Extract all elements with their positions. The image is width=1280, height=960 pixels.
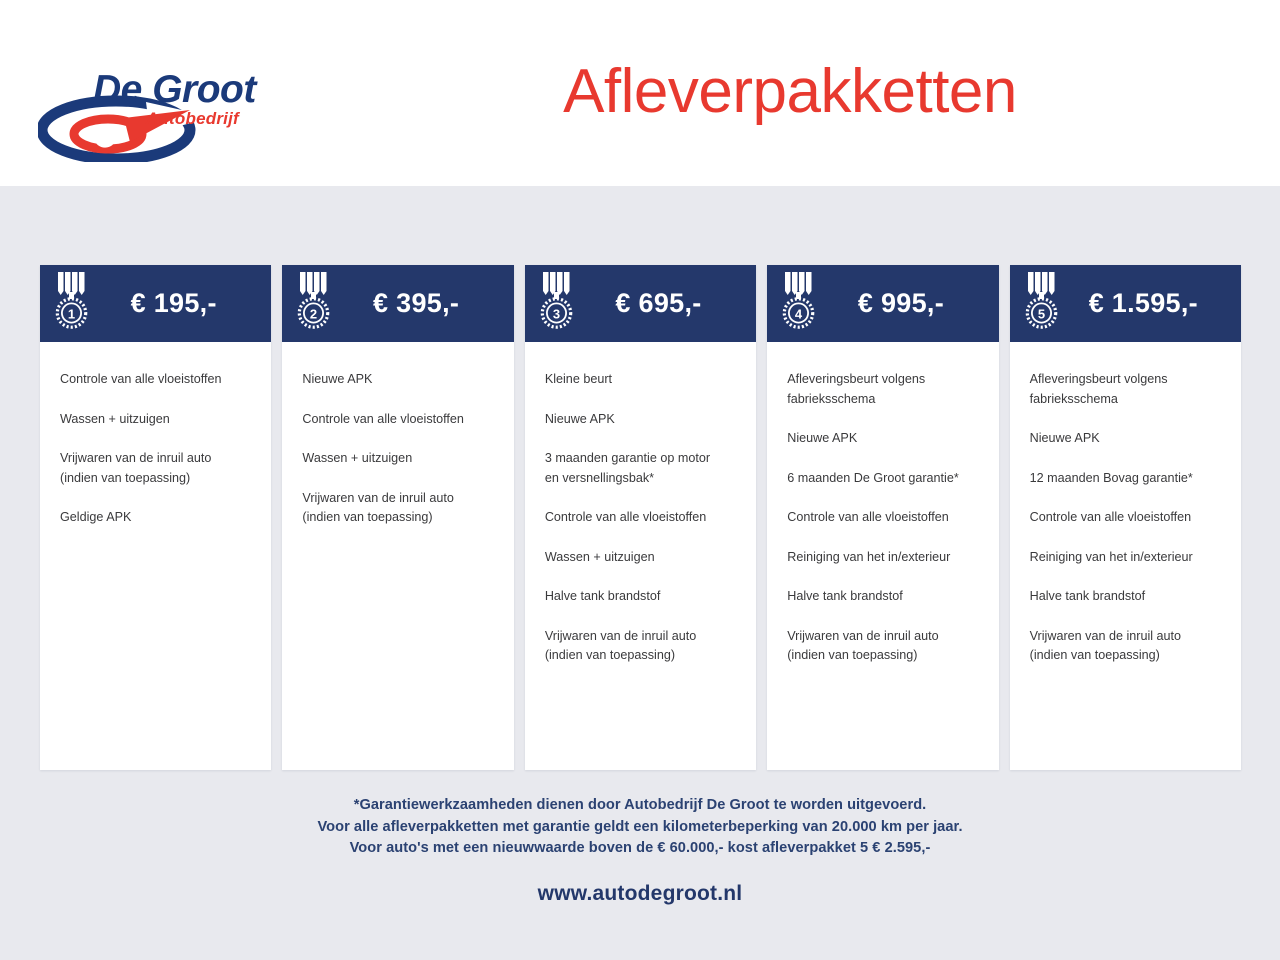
package-feature-list: Afleveringsbeurt volgens fabrieksschemaN… <box>1010 342 1241 770</box>
package-feature: Reiniging van het in/exterieur <box>1030 548 1221 568</box>
package-feature: Afleveringsbeurt volgens fabrieksschema <box>1030 370 1221 409</box>
package-card[interactable]: 2 € 395,- Nieuwe APKControle van alle vl… <box>282 265 513 770</box>
package-card-header: 4 € 995,- <box>767 265 998 342</box>
package-feature: Halve tank brandstof <box>1030 587 1221 607</box>
medal-badge: 2 <box>294 270 336 334</box>
package-feature-list: Kleine beurtNieuwe APK3 maanden garantie… <box>525 342 756 770</box>
svg-text:2: 2 <box>310 306 317 321</box>
medal-icon: 3 <box>537 270 579 334</box>
package-feature: Nieuwe APK <box>1030 429 1221 449</box>
medal-badge: 4 <box>779 270 821 334</box>
footer-disclaimer: *Garantiewerkzaamheden dienen door Autob… <box>0 795 1280 860</box>
svg-text:De Groot: De Groot <box>93 68 258 111</box>
afleverpakketten-page: De Groot Autobedrijf Afleverpakketten <box>0 0 1280 960</box>
package-card[interactable]: 1 € 195,- Controle van alle vloeistoffen… <box>40 265 271 770</box>
package-price: € 395,- <box>336 288 499 319</box>
package-feature: Nieuwe APK <box>545 410 736 430</box>
medal-icon: 4 <box>779 270 821 334</box>
package-feature: Kleine beurt <box>545 370 736 390</box>
package-card-list: 1 € 195,- Controle van alle vloeistoffen… <box>40 265 1241 770</box>
package-card-header: 1 € 195,- <box>40 265 271 342</box>
package-card[interactable]: 5 € 1.595,- Afleveringsbeurt volgens fab… <box>1010 265 1241 770</box>
page-footer: *Garantiewerkzaamheden dienen door Autob… <box>0 795 1280 906</box>
svg-text:5: 5 <box>1038 306 1045 321</box>
package-card[interactable]: 4 € 995,- Afleveringsbeurt volgens fabri… <box>767 265 998 770</box>
package-price: € 995,- <box>821 288 984 319</box>
package-feature: Controle van alle vloeistoffen <box>787 508 978 528</box>
page-header: De Groot Autobedrijf Afleverpakketten <box>0 0 1280 186</box>
package-feature: Controle van alle vloeistoffen <box>302 410 493 430</box>
svg-text:4: 4 <box>795 306 803 321</box>
package-feature: 6 maanden De Groot garantie* <box>787 469 978 489</box>
medal-badge: 1 <box>52 270 94 334</box>
package-feature: Wassen + uitzuigen <box>302 449 493 469</box>
package-feature: Nieuwe APK <box>302 370 493 390</box>
package-card-header: 3 € 695,- <box>525 265 756 342</box>
package-feature: Controle van alle vloeistoffen <box>545 508 736 528</box>
page-title: Afleverpakketten <box>430 58 1150 126</box>
package-feature: Vrijwaren van de inruil auto (indien van… <box>545 627 736 666</box>
package-feature: Vrijwaren van de inruil auto (indien van… <box>302 489 493 528</box>
package-feature: Reiniging van het in/exterieur <box>787 548 978 568</box>
footer-line: Voor auto's met een nieuwwaarde boven de… <box>0 838 1280 860</box>
svg-text:3: 3 <box>553 306 560 321</box>
package-feature: Controle van alle vloeistoffen <box>60 370 251 390</box>
package-feature: Vrijwaren van de inruil auto (indien van… <box>1030 627 1221 666</box>
svg-text:1: 1 <box>68 306 75 321</box>
footer-line: Voor alle afleverpakketten met garantie … <box>0 817 1280 839</box>
medal-icon: 1 <box>52 270 94 334</box>
medal-badge: 5 <box>1022 270 1064 334</box>
package-feature: 12 maanden Bovag garantie* <box>1030 469 1221 489</box>
package-card-header: 2 € 395,- <box>282 265 513 342</box>
package-price: € 195,- <box>94 288 257 319</box>
package-card[interactable]: 3 € 695,- Kleine beurtNieuwe APK3 maande… <box>525 265 756 770</box>
de-groot-logo-icon: De Groot Autobedrijf <box>38 62 300 162</box>
website-url[interactable]: www.autodegroot.nl <box>0 882 1280 906</box>
package-feature: Afleveringsbeurt volgens fabrieksschema <box>787 370 978 409</box>
package-feature: Halve tank brandstof <box>545 587 736 607</box>
svg-text:Autobedrijf: Autobedrijf <box>145 109 241 128</box>
package-feature-list: Afleveringsbeurt volgens fabrieksschemaN… <box>767 342 998 770</box>
package-feature: Vrijwaren van de inruil auto (indien van… <box>787 627 978 666</box>
package-card-header: 5 € 1.595,- <box>1010 265 1241 342</box>
package-feature: 3 maanden garantie op motor en versnelli… <box>545 449 736 488</box>
package-feature-list: Nieuwe APKControle van alle vloeistoffen… <box>282 342 513 770</box>
package-price: € 695,- <box>579 288 742 319</box>
package-feature: Vrijwaren van de inruil auto (indien van… <box>60 449 251 488</box>
medal-badge: 3 <box>537 270 579 334</box>
package-feature: Nieuwe APK <box>787 429 978 449</box>
package-feature: Geldige APK <box>60 508 251 528</box>
package-feature: Halve tank brandstof <box>787 587 978 607</box>
footer-line: *Garantiewerkzaamheden dienen door Autob… <box>0 795 1280 817</box>
medal-icon: 2 <box>294 270 336 334</box>
package-feature-list: Controle van alle vloeistoffenWassen + u… <box>40 342 271 770</box>
package-feature: Controle van alle vloeistoffen <box>1030 508 1221 528</box>
package-feature: Wassen + uitzuigen <box>60 410 251 430</box>
package-price: € 1.595,- <box>1064 288 1227 319</box>
package-feature: Wassen + uitzuigen <box>545 548 736 568</box>
company-logo: De Groot Autobedrijf <box>38 62 300 162</box>
medal-icon: 5 <box>1022 270 1064 334</box>
